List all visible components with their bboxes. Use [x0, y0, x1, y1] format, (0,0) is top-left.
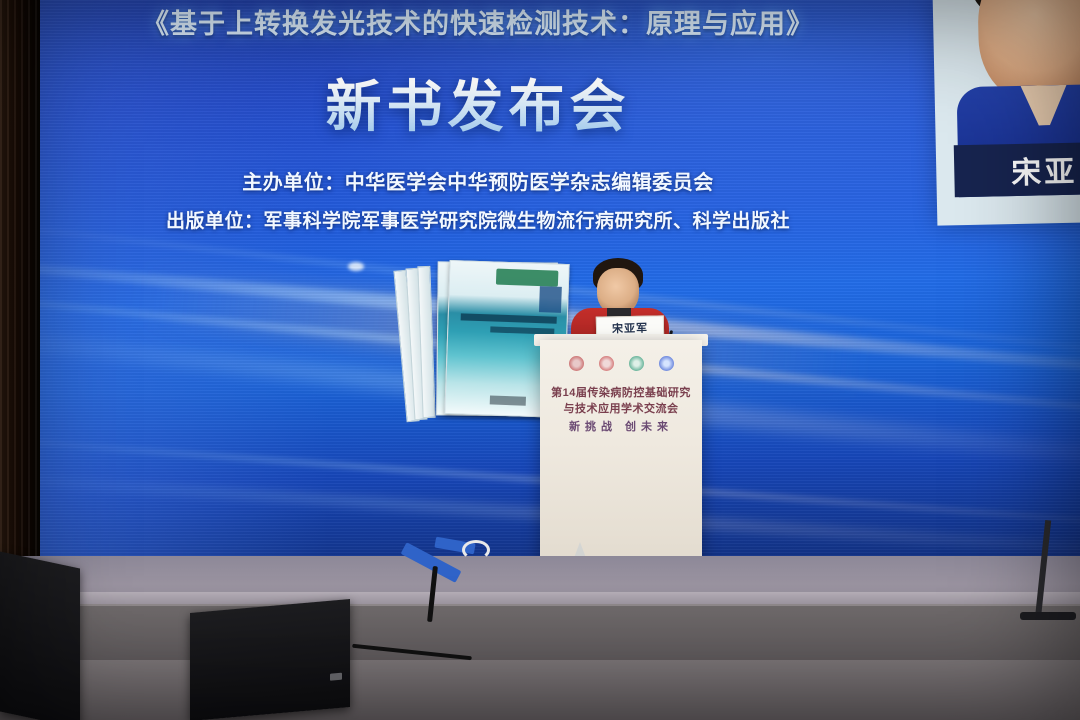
stage-curtain-left — [0, 0, 40, 600]
speaker-name-text: 宋亚 — [1011, 147, 1078, 192]
stage-monitor-speaker — [190, 599, 350, 720]
organizer-line: 主办单位：中华医学会中华预防医学杂志编辑委员会 — [28, 166, 928, 195]
podium-logo-row — [540, 356, 702, 371]
book-corner-badge — [539, 286, 562, 313]
backdrop-glow-dot — [348, 262, 364, 271]
book-publisher-logo — [496, 269, 559, 287]
podium-conference-line-2: 与技术应用学术交流会 — [540, 400, 702, 416]
logo-red-star-icon — [599, 356, 614, 371]
logo-green-circle-icon — [629, 356, 644, 371]
publisher-line: 出版单位：军事科学院军事医学研究院微生物流行病研究所、科学出版社 — [28, 206, 928, 233]
page-title: 新书发布会 — [28, 62, 928, 143]
podium-conference-line-1: 第14届传染病防控基础研究 — [540, 384, 702, 400]
speaker-name-banner: 宋亚 — [954, 142, 1080, 198]
cable-hook — [462, 540, 490, 560]
logo-red-emblem-icon — [569, 356, 584, 371]
speaker-brand-badge — [330, 673, 342, 681]
mic-stand-base — [1020, 612, 1076, 620]
book-title-text: 《基于上转换发光技术的快速检测技术：原理与应用》 — [28, 2, 928, 41]
conference-stage-photo: 《基于上转换发光技术的快速检测技术：原理与应用》 新书发布会 主办单位：中华医学… — [0, 0, 1080, 720]
book-publisher-mark — [490, 395, 526, 405]
stage-step-upper — [0, 606, 1080, 664]
logo-blue-circle-icon — [659, 356, 674, 371]
stage-step-lower — [0, 660, 1080, 720]
podium-slogan: 新挑战 创未来 — [540, 418, 702, 434]
stage-monitor-speaker — [0, 551, 80, 720]
speaker-photo-panel: 宋亚 — [933, 0, 1080, 226]
